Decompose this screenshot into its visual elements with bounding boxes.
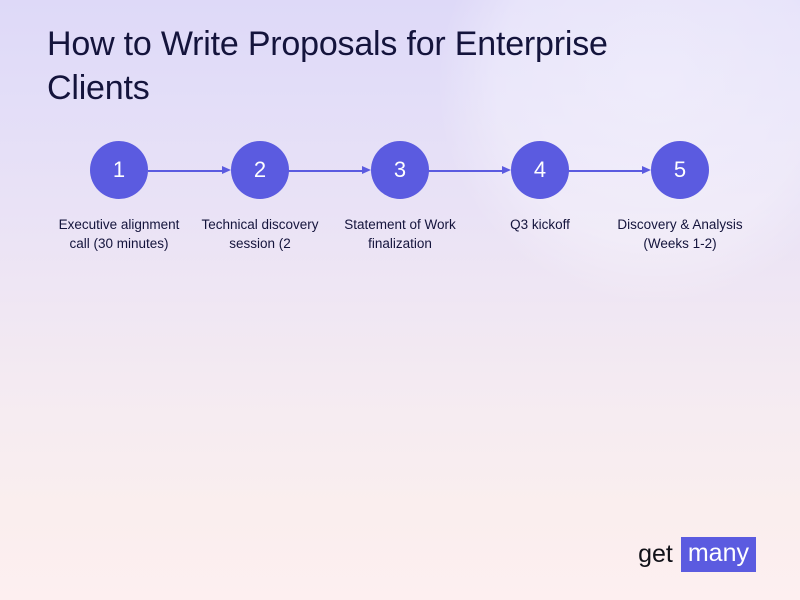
step-number-badge: 1: [90, 141, 148, 199]
slide-title: How to Write Proposals for Enterprise Cl…: [47, 23, 707, 110]
flow-step-2[interactable]: 2 Technical discovery session (2: [190, 141, 330, 253]
step-number-badge: 2: [231, 141, 289, 199]
flow-step-5[interactable]: 5 Discovery & Analysis (Weeks 1-2): [610, 141, 750, 253]
process-flow-diagram: 1 Executive alignment call (30 minutes) …: [0, 141, 800, 286]
flow-step-4[interactable]: 4 Q3 kickoff: [470, 141, 610, 234]
step-number: 5: [674, 159, 686, 181]
logo-word-get: get: [638, 542, 681, 567]
step-number: 3: [394, 159, 406, 181]
step-number: 1: [113, 159, 125, 181]
step-number: 2: [254, 159, 266, 181]
step-label: Technical discovery session (2: [190, 215, 330, 253]
step-label: Executive alignment call (30 minutes): [49, 215, 189, 253]
brand-logo: get many: [638, 537, 756, 572]
step-label: Discovery & Analysis (Weeks 1-2): [610, 215, 750, 253]
step-number: 4: [534, 159, 546, 181]
step-number-badge: 4: [511, 141, 569, 199]
step-label: Statement of Work finalization: [330, 215, 470, 253]
logo-word-many: many: [681, 537, 756, 572]
step-label: Q3 kickoff: [470, 215, 610, 234]
slide: How to Write Proposals for Enterprise Cl…: [0, 0, 800, 600]
flow-step-1[interactable]: 1 Executive alignment call (30 minutes): [49, 141, 189, 253]
flow-step-3[interactable]: 3 Statement of Work finalization: [330, 141, 470, 253]
step-number-badge: 3: [371, 141, 429, 199]
step-number-badge: 5: [651, 141, 709, 199]
